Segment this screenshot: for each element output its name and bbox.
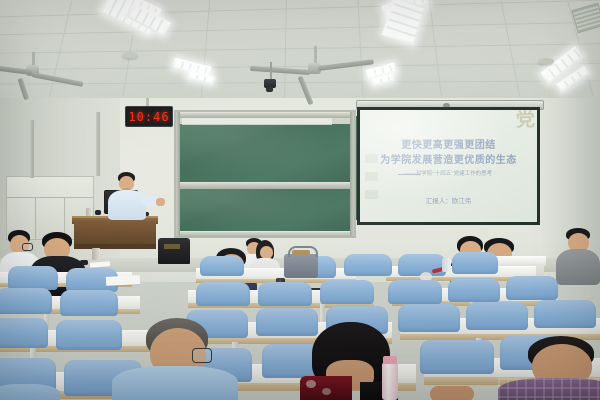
- classroom-photo: 10:46 党 更快更高更强更团结 为学院发展营造更优质的生态 ——对学院“十四…: [0, 0, 600, 400]
- seat: [398, 304, 460, 332]
- shirt-check-pattern: [498, 378, 600, 400]
- chalkboard-panel-upper: [179, 124, 351, 184]
- paper-cup: [92, 248, 100, 260]
- bottle-cap: [383, 356, 397, 364]
- pink-water-bottle: [382, 362, 398, 400]
- seat: [8, 266, 58, 290]
- seat: [534, 300, 596, 328]
- wall-digital-clock: 10:46: [125, 106, 173, 127]
- lectern-base: [74, 244, 156, 249]
- slide-title-line2: 为学院发展营造更优质的生态: [360, 151, 537, 166]
- seat: [452, 252, 498, 274]
- glasses-icon: [192, 348, 212, 363]
- seat: [0, 288, 52, 314]
- seat: [256, 308, 318, 336]
- seat: [448, 278, 500, 302]
- smoke-detector-icon: [538, 58, 554, 64]
- seat: [420, 340, 494, 374]
- desk-item: [80, 260, 88, 265]
- seat: [200, 256, 244, 276]
- clock-time: 10:46: [128, 110, 169, 124]
- seat: [320, 280, 374, 304]
- slide-presenter: 汇报人：欧江伟: [360, 195, 537, 205]
- presenter-hand: [156, 198, 165, 206]
- wall-pipe-2: [96, 112, 100, 176]
- glasses-icon: [22, 243, 33, 251]
- seat: [506, 276, 558, 300]
- seat: [0, 318, 48, 348]
- hands: [430, 386, 474, 400]
- smoke-detector-icon: [122, 52, 138, 58]
- seat: [388, 280, 442, 304]
- handbag: [284, 254, 318, 278]
- handbag-trim: [292, 250, 310, 255]
- seat: [196, 282, 250, 306]
- slide-watermark: 党: [516, 113, 534, 130]
- seat: [60, 290, 118, 316]
- wall-pipe: [30, 120, 34, 178]
- black-office-chair: [158, 238, 190, 264]
- seat: [258, 282, 312, 306]
- projection-screen-frame: 党 更快更高更强更团结 为学院发展营造更优质的生态 ——对学院“十四五”党建工作…: [357, 107, 540, 225]
- desk-item: [46, 258, 54, 263]
- green-chalkboard: [174, 110, 356, 238]
- ceiling: [0, 0, 600, 98]
- chalkboard-panel-lower: [179, 189, 351, 234]
- paper-sheet: [106, 275, 140, 286]
- clear-bottle: [442, 258, 451, 272]
- paper-cup: [86, 208, 92, 216]
- projection-screen: 党 更快更高更强更团结 为学院发展营造更优质的生态 ——对学院“十四五”党建工作…: [360, 110, 537, 222]
- slide-subtitle: ——对学院“十四五”党建工作的思考: [360, 169, 537, 177]
- seat: [56, 320, 122, 350]
- seat: [466, 302, 528, 330]
- slide-title-line1: 更快更高更强更团结: [360, 136, 537, 151]
- desk-item: [95, 210, 101, 215]
- seat: [344, 254, 392, 276]
